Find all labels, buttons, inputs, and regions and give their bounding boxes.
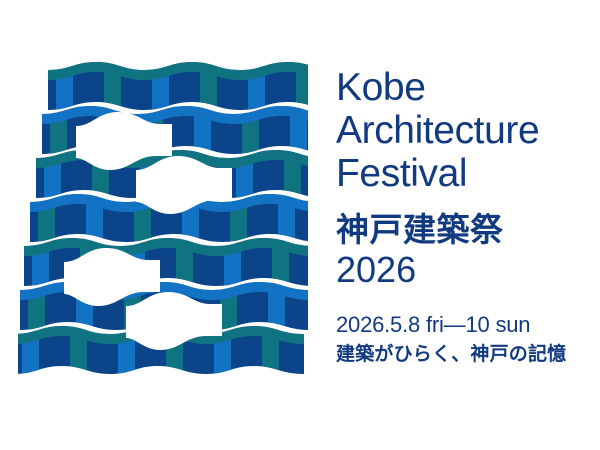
event-dates: 2026.5.8 fri—10 sun	[336, 312, 586, 338]
festival-logo-mark	[18, 58, 308, 376]
title-japanese: 神戸建築祭	[336, 210, 586, 250]
title-line-festival: Festival	[336, 152, 586, 195]
title-text-block: Kobe Architecture Festival 神戸建築祭 2026 20…	[336, 66, 586, 366]
title-line-kobe: Kobe	[336, 66, 586, 109]
event-tagline: 建築がひらく、神戸の記憶	[336, 342, 586, 366]
logo-svg	[18, 58, 308, 376]
poster-canvas: Kobe Architecture Festival 神戸建築祭 2026 20…	[0, 0, 600, 450]
title-year: 2026	[336, 250, 586, 290]
title-line-architecture: Architecture	[336, 109, 586, 152]
